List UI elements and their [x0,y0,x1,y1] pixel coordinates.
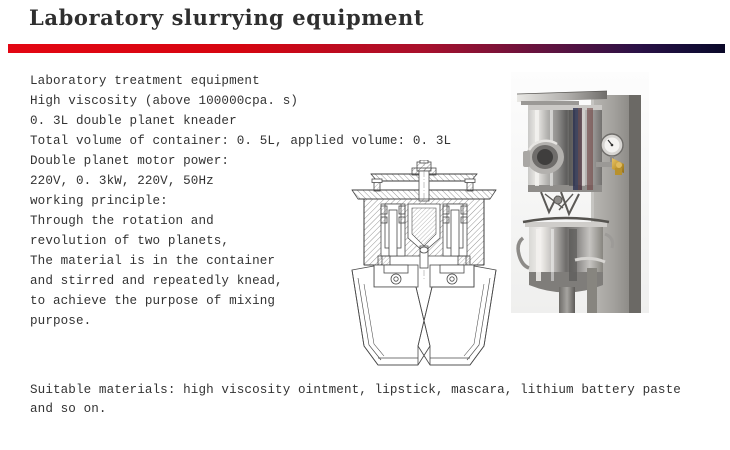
accent-divider [8,44,725,53]
spec-line: 220V, 0. 3kW, 220V, 50Hz [30,171,350,191]
spec-line: The material is in the container [30,251,350,271]
suitable-materials-note: Suitable materials: high viscosity ointm… [30,381,700,419]
blade-mount-right [430,265,474,287]
mixing-bowl [518,218,613,293]
note-line: and so on. [30,400,700,419]
page-title: Laboratory slurrying equipment [29,5,424,30]
spec-line: Through the rotation and [30,211,350,231]
spec-line: 0. 3L double planet kneader [30,111,350,131]
note-line: Suitable materials: high viscosity ointm… [30,381,700,400]
spec-line: High viscosity (above 100000cpa. s) [30,91,350,111]
sun-gear-area [408,204,440,268]
spec-line: and stirred and repeatedly knead, [30,271,350,291]
spec-line: Total volume of container: 0. 5L, applie… [30,131,350,151]
spec-line: to achieve the purpose of mixing [30,291,350,311]
spec-line: revolution of two planets, [30,231,350,251]
blade-mount-left [374,265,418,287]
product-spec-page: { "header": { "title": "Laboratory slurr… [0,0,730,450]
right-planet-cavity [443,204,467,256]
spec-line: working principle: [30,191,350,211]
left-planet-cavity [381,204,405,256]
spec-line: Laboratory treatment equipment [30,71,350,91]
spec-line: Double planet motor power: [30,151,350,171]
spec-line: purpose. [30,311,350,331]
specification-text-block: Laboratory treatment equipment High visc… [30,71,350,331]
kneader-cross-section-drawing [338,160,510,375]
equipment-photo [511,72,649,313]
